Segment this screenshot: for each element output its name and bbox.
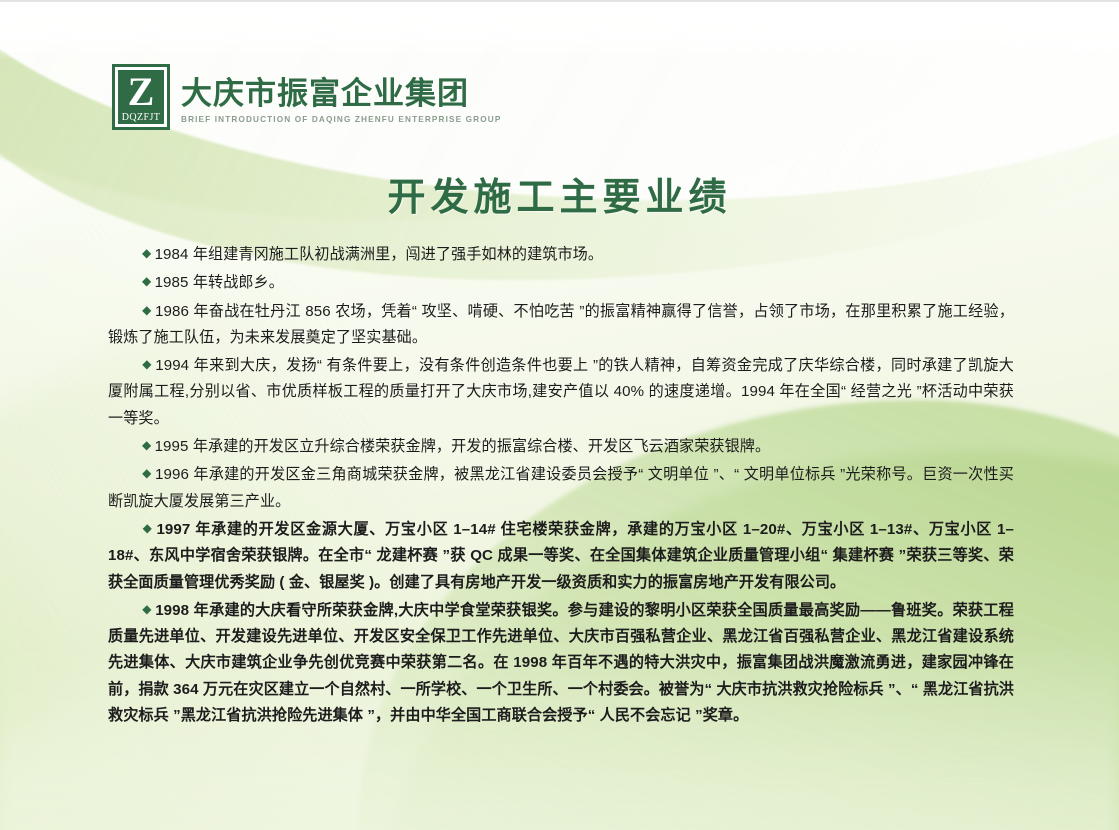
paragraph-p-1994: ◆ 1994 年来到大庆，发扬“ 有条件要上，没有条件创造条件也要上 ”的铁人精… — [108, 351, 1014, 432]
diamond-bullet-icon: ◆ — [142, 357, 155, 371]
logo-abbreviation: DQZFJT — [118, 112, 164, 123]
brand-text-block: 大庆市振富企业集团 BRIEF INTRODUCTION OF DAQING Z… — [181, 64, 501, 126]
diamond-bullet-icon: ◆ — [142, 246, 155, 260]
brand-header: Z DQZFJT 大庆市振富企业集团 BRIEF INTRODUCTION OF… — [112, 64, 501, 130]
paragraph-p-1986: ◆ 1986 年奋战在牡丹江 856 农场，凭着“ 攻坚、啃硬、不怕吃苦 ”的振… — [108, 297, 1014, 352]
logo-letter-z: Z — [128, 71, 155, 113]
paragraph-p-1998: ◆ 1998 年承建的大庆看守所荣获金牌,大庆中学食堂荣获银奖。参与建设的黎明小… — [108, 596, 1014, 729]
diamond-bullet-icon: ◆ — [142, 602, 155, 616]
company-name-cn: 大庆市振富企业集团 — [181, 76, 501, 112]
background-top-fade — [0, 0, 1119, 60]
diamond-bullet-icon: ◆ — [142, 274, 155, 288]
company-name-en: BRIEF INTRODUCTION OF DAQING ZHENFU ENTE… — [181, 114, 501, 126]
paragraph-text: 1994 年来到大庆，发扬“ 有条件要上，没有条件创造条件也要上 ”的铁人精神，… — [108, 357, 1014, 427]
paragraph-text: 1985 年转战郎乡。 — [155, 274, 284, 291]
paragraph-text: 1997 年承建的开发区金源大厦、万宝小区 1–14# 住宅楼荣获金牌，承建的万… — [108, 521, 1014, 591]
diamond-bullet-icon: ◆ — [142, 521, 156, 535]
paragraph-text: 1998 年承建的大庆看守所荣获金牌,大庆中学食堂荣获银奖。参与建设的黎明小区荣… — [108, 602, 1014, 724]
paragraph-text: 1995 年承建的开发区立升综合楼荣获金牌，开发的振富综合楼、开发区飞云酒家荣获… — [155, 438, 771, 455]
paragraph-p-1995: ◆ 1995 年承建的开发区立升综合楼荣获金牌，开发的振富综合楼、开发区飞云酒家… — [108, 432, 1014, 460]
background-swoosh-top — [0, 0, 1119, 280]
page-title: 开发施工主要业绩 — [0, 166, 1119, 221]
body-copy: ◆ 1984 年组建青冈施工队初战满洲里，闯进了强手如林的建筑市场。◆ 1985… — [108, 240, 1014, 729]
paragraph-p-1985: ◆ 1985 年转战郎乡。 — [108, 268, 1014, 296]
company-logo-icon: Z DQZFJT — [112, 64, 170, 130]
paragraph-text: 1986 年奋战在牡丹江 856 农场，凭着“ 攻坚、啃硬、不怕吃苦 ”的振富精… — [108, 303, 1014, 346]
paragraph-text: 1984 年组建青冈施工队初战满洲里，闯进了强手如林的建筑市场。 — [155, 246, 604, 263]
slide-page: Z DQZFJT 大庆市振富企业集团 BRIEF INTRODUCTION OF… — [0, 0, 1119, 830]
diamond-bullet-icon: ◆ — [142, 303, 155, 317]
paragraph-text: 1996 年承建的开发区金三角商城荣获金牌，被黑龙江省建设委员会授予“ 文明单位… — [108, 466, 1014, 509]
paragraph-p-1997: ◆ 1997 年承建的开发区金源大厦、万宝小区 1–14# 住宅楼荣获金牌，承建… — [108, 515, 1014, 596]
diamond-bullet-icon: ◆ — [142, 438, 155, 452]
paragraph-p-1996: ◆ 1996 年承建的开发区金三角商城荣获金牌，被黑龙江省建设委员会授予“ 文明… — [108, 460, 1014, 515]
paragraph-p-1984: ◆ 1984 年组建青冈施工队初战满洲里，闯进了强手如林的建筑市场。 — [108, 240, 1014, 268]
page-top-edge-line — [0, 0, 1119, 2]
diamond-bullet-icon: ◆ — [142, 466, 155, 480]
